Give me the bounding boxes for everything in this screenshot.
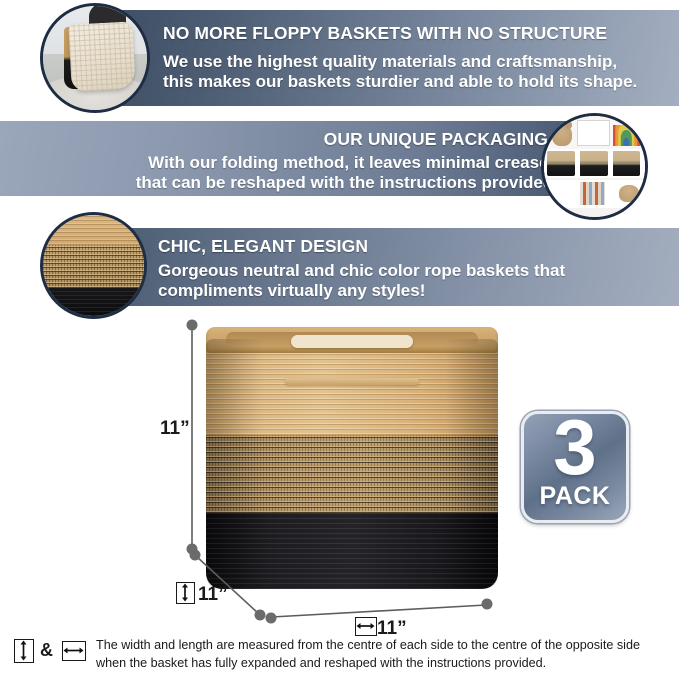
scene-wall-art bbox=[577, 120, 609, 146]
pack-count-badge: 3 PACK bbox=[521, 411, 629, 523]
width-measure-icon bbox=[355, 617, 377, 636]
feature-title: CHIC, ELEGANT DESIGN bbox=[158, 236, 368, 257]
thumbnail-image bbox=[43, 6, 147, 110]
scene-shelf-divider bbox=[609, 149, 613, 177]
scene-shelf-divider bbox=[576, 149, 580, 177]
scene-waffle-blanket bbox=[68, 21, 136, 91]
basket-band-speckled bbox=[206, 435, 498, 513]
feature-body: We use the highest quality materials and… bbox=[163, 52, 637, 92]
feature-body-line2: that can be reshaped with the instructio… bbox=[136, 173, 558, 192]
dimension-line-width bbox=[272, 605, 486, 617]
feature-title: OUR UNIQUE PACKAGING bbox=[324, 129, 548, 150]
rope-band-tan bbox=[43, 215, 144, 245]
rope-band-speckled bbox=[43, 245, 144, 287]
feature-banner-no-floppy-baskets: NO MORE FLOPPY BASKETS WITH NO STRUCTURE… bbox=[118, 10, 679, 106]
dimension-marker bbox=[187, 320, 198, 331]
feature-body-line2: this makes our baskets sturdier and able… bbox=[163, 72, 637, 91]
scene-shelf-basket bbox=[612, 151, 640, 176]
feature-body: With our folding method, it leaves minim… bbox=[136, 153, 558, 193]
basket-handle-front bbox=[285, 378, 419, 385]
basket-body bbox=[206, 339, 498, 589]
feature-title: NO MORE FLOPPY BASKETS WITH NO STRUCTURE bbox=[163, 23, 607, 44]
dimension-marker bbox=[482, 599, 493, 610]
scene-shelf-divider bbox=[609, 180, 613, 208]
feature-thumbnail-cube-shelf bbox=[541, 113, 648, 220]
dimension-label-depth: 11” bbox=[198, 584, 228, 606]
width-measure-icon bbox=[62, 641, 86, 661]
disclaimer-line1: The width and length are measured from t… bbox=[96, 637, 671, 655]
scene-shelf-basket bbox=[547, 151, 575, 176]
basket-handle-cutout bbox=[291, 335, 414, 348]
feature-body-line1: We use the highest quality materials and… bbox=[163, 52, 617, 71]
pack-count-number: 3 bbox=[524, 408, 626, 486]
feature-banner-unique-packaging: OUR UNIQUE PACKAGING With our folding me… bbox=[0, 121, 600, 196]
scene-teddy-bear bbox=[552, 124, 572, 146]
product-image-rope-basket bbox=[206, 321, 498, 589]
disclaimer-line2: when the basket has fully expanded and r… bbox=[96, 655, 671, 673]
scene-shelf-divider bbox=[576, 180, 580, 208]
dimension-marker bbox=[187, 544, 198, 555]
scene-rainbow-toy bbox=[613, 125, 640, 146]
feature-banner-chic-elegant-design: CHIC, ELEGANT DESIGN Gorgeous neutral an… bbox=[96, 228, 679, 306]
scene-shelf-row-upper bbox=[544, 149, 645, 177]
ampersand-separator: & bbox=[40, 640, 53, 661]
feature-body-line2: compliments virtually any styles! bbox=[158, 281, 425, 300]
feature-body-line1: With our folding method, it leaves minim… bbox=[148, 153, 558, 172]
dimension-marker bbox=[255, 610, 266, 621]
rainbow-arc-blue bbox=[624, 138, 629, 146]
scene-books bbox=[548, 181, 574, 205]
pack-count-label: PACK bbox=[524, 482, 626, 511]
scene-books bbox=[580, 182, 604, 205]
disclaimer-text: The width and length are measured from t… bbox=[96, 637, 671, 673]
feature-thumbnail-basket-with-blanket bbox=[40, 3, 150, 113]
rope-band-black bbox=[43, 288, 144, 316]
feature-body-line1: Gorgeous neutral and chic color rope bas… bbox=[158, 261, 565, 280]
scene-teddy-bear bbox=[619, 185, 639, 203]
thumbnail-image bbox=[544, 116, 645, 217]
measurement-disclaimer: & The width and length are measured from… bbox=[14, 637, 669, 671]
feature-thumbnail-rope-texture bbox=[40, 212, 147, 319]
height-measure-icon bbox=[14, 639, 34, 663]
thumbnail-image bbox=[43, 215, 144, 316]
feature-body: Gorgeous neutral and chic color rope bas… bbox=[158, 261, 565, 301]
dimension-marker bbox=[190, 550, 201, 561]
infographic-canvas: NO MORE FLOPPY BASKETS WITH NO STRUCTURE… bbox=[0, 0, 679, 673]
height-measure-icon bbox=[176, 582, 195, 604]
basket-band-black bbox=[206, 513, 498, 589]
dimension-label-height: 11” bbox=[160, 418, 190, 440]
scene-shelf-row-lower bbox=[544, 180, 645, 208]
basket-band-tan bbox=[206, 339, 498, 435]
scene-shelf-basket bbox=[579, 151, 607, 176]
dimension-marker bbox=[266, 613, 277, 624]
